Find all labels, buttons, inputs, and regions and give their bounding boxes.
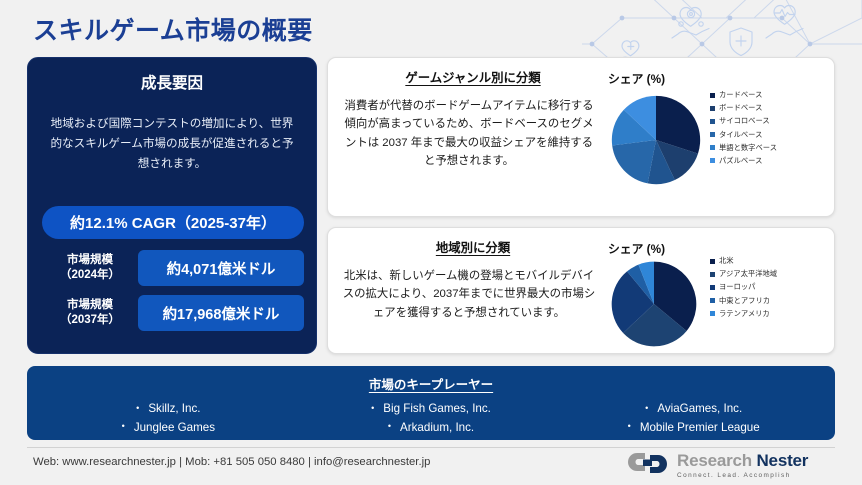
legend-item: ヨーロッパ: [710, 282, 777, 292]
market-size-label-2024: 市場規模 （2024年）: [42, 253, 138, 282]
logo-text: Research Nester Connect. Lead. Accomplis…: [677, 452, 808, 479]
legend-item: サイコロベース: [710, 116, 777, 126]
key-players-panel: 市場のキープレーヤー Skillz, Inc. Junglee Games Bi…: [27, 366, 835, 440]
legend-swatch: [710, 119, 715, 124]
segment-share-label: シェア (%): [608, 70, 822, 87]
legend-label: ラテンアメリカ: [719, 309, 770, 319]
research-nester-logo: Research Nester Connect. Lead. Accomplis…: [628, 450, 840, 481]
legend-item: タイルベース: [710, 130, 777, 140]
legend-label: アジア太平洋地域: [719, 269, 777, 279]
legend-swatch: [710, 285, 715, 290]
legend-label: サイコロベース: [719, 116, 770, 126]
legend-item: ラテンアメリカ: [710, 309, 777, 319]
segment-card-heading: ゲームジャンル別に分類: [328, 68, 618, 86]
legend-label: 北米: [719, 256, 734, 266]
legend-swatch: [710, 259, 715, 264]
key-players-title: 市場のキープレーヤー: [27, 374, 835, 393]
growth-panel-body: 地域および国際コンテストの増加により、世界的なスキルゲーム市場の成長が促進される…: [46, 114, 298, 174]
legend-label: カードベース: [719, 90, 762, 100]
legend-swatch: [710, 132, 715, 137]
logo-name: Research Nester: [677, 451, 808, 470]
legend-label: ボードベース: [719, 103, 762, 113]
legend-swatch: [710, 272, 715, 277]
legend-item: ボードベース: [710, 103, 777, 113]
market-size-label-2037-line1: 市場規模: [42, 298, 138, 313]
growth-drivers-panel: 成長要因 地域および国際コンテストの増加により、世界的なスキルゲーム市場の成長が…: [27, 57, 317, 354]
legend-label: タイルベース: [719, 130, 762, 140]
region-card: 地域別に分類 北米は、新しいゲーム機の登場とモバイルデバイスの拡大により、203…: [327, 227, 835, 354]
list-item: Mobile Premier League: [562, 419, 825, 438]
segment-pie-svg: [608, 92, 704, 188]
footer-divider: [27, 447, 835, 448]
logo-name-research: Research: [677, 451, 752, 470]
footer-contact: Web: www.researchnester.jp | Mob: +81 50…: [33, 456, 430, 468]
region-card-heading: 地域別に分類: [328, 238, 618, 256]
key-players-column-2: Big Fish Games, Inc. Arkadium, Inc.: [300, 400, 563, 438]
list-item: Skillz, Inc.: [37, 400, 300, 419]
legend-swatch: [710, 145, 715, 150]
key-players-column-3: AviaGames, Inc. Mobile Premier League: [562, 400, 825, 438]
logo-name-nester: Nester: [756, 451, 808, 470]
hexagon-healthcare-icons: [582, 0, 862, 62]
list-item: Arkadium, Inc.: [300, 419, 563, 438]
legend-item: パズルベース: [710, 156, 777, 166]
market-size-row-2024: 市場規模 （2024年） 約4,071億米ドル: [42, 250, 304, 286]
legend-item: カードベース: [710, 90, 777, 100]
segment-card-body: 消費者が代替のボードゲームアイテムに移行する傾向が高まっているため、ボードベース…: [328, 97, 610, 171]
segment-pie-chart: カードベースボードベースサイコロベースタイルベース単語と数字ベースパズルベース: [604, 88, 824, 208]
legend-label: 中東とアフリカ: [719, 296, 770, 306]
region-pie-svg: [608, 258, 700, 350]
logo-tagline: Connect. Lead. Accomplish: [677, 473, 808, 479]
market-size-value-2037: 約17,968億米ドル: [138, 295, 304, 331]
market-size-label-2037-line2: （2037年）: [42, 313, 138, 328]
legend-swatch: [710, 93, 715, 98]
legend-label: ヨーロッパ: [719, 282, 755, 292]
page-title: スキルゲーム市場の概要: [33, 11, 313, 47]
market-size-value-2024: 約4,071億米ドル: [138, 250, 304, 286]
market-size-label-2024-line1: 市場規模: [42, 253, 138, 268]
legend-label: 単語と数字ベース: [719, 143, 777, 153]
slide-root: スキルゲーム市場の概要 成長要因 地域および国際コンテストの増加により、世界的な…: [0, 0, 862, 485]
region-card-body: 北米は、新しいゲーム機の登場とモバイルデバイスの拡大により、2037年までに世界…: [328, 267, 610, 322]
interlocking-links-icon: [628, 451, 670, 480]
legend-swatch: [710, 106, 715, 111]
legend-item: 北米: [710, 256, 777, 266]
region-pie-chart: 北米アジア太平洋地域ヨーロッパ中東とアフリカラテンアメリカ: [604, 254, 824, 374]
list-item: Junglee Games: [37, 419, 300, 438]
segment-pie-legend: カードベースボードベースサイコロベースタイルベース単語と数字ベースパズルベース: [710, 90, 777, 169]
market-size-label-2037: 市場規模 （2037年）: [42, 298, 138, 327]
legend-item: アジア太平洋地域: [710, 269, 777, 279]
legend-label: パズルベース: [719, 156, 762, 166]
growth-panel-title: 成長要因: [28, 71, 316, 93]
key-players-columns: Skillz, Inc. Junglee Games Big Fish Game…: [27, 400, 835, 438]
legend-swatch: [710, 158, 715, 163]
cagr-badge: 約12.1% CAGR（2025-37年）: [42, 206, 304, 239]
market-size-label-2024-line2: （2024年）: [42, 268, 138, 283]
legend-item: 単語と数字ベース: [710, 143, 777, 153]
legend-swatch: [710, 311, 715, 316]
segment-card: ゲームジャンル別に分類 消費者が代替のボードゲームアイテムに移行する傾向が高まっ…: [327, 57, 835, 217]
list-item: Big Fish Games, Inc.: [300, 400, 563, 419]
key-players-column-1: Skillz, Inc. Junglee Games: [37, 400, 300, 438]
region-pie-legend: 北米アジア太平洋地域ヨーロッパ中東とアフリカラテンアメリカ: [710, 256, 777, 322]
list-item: AviaGames, Inc.: [562, 400, 825, 419]
market-size-row-2037: 市場規模 （2037年） 約17,968億米ドル: [42, 295, 304, 331]
legend-item: 中東とアフリカ: [710, 296, 777, 306]
legend-swatch: [710, 298, 715, 303]
